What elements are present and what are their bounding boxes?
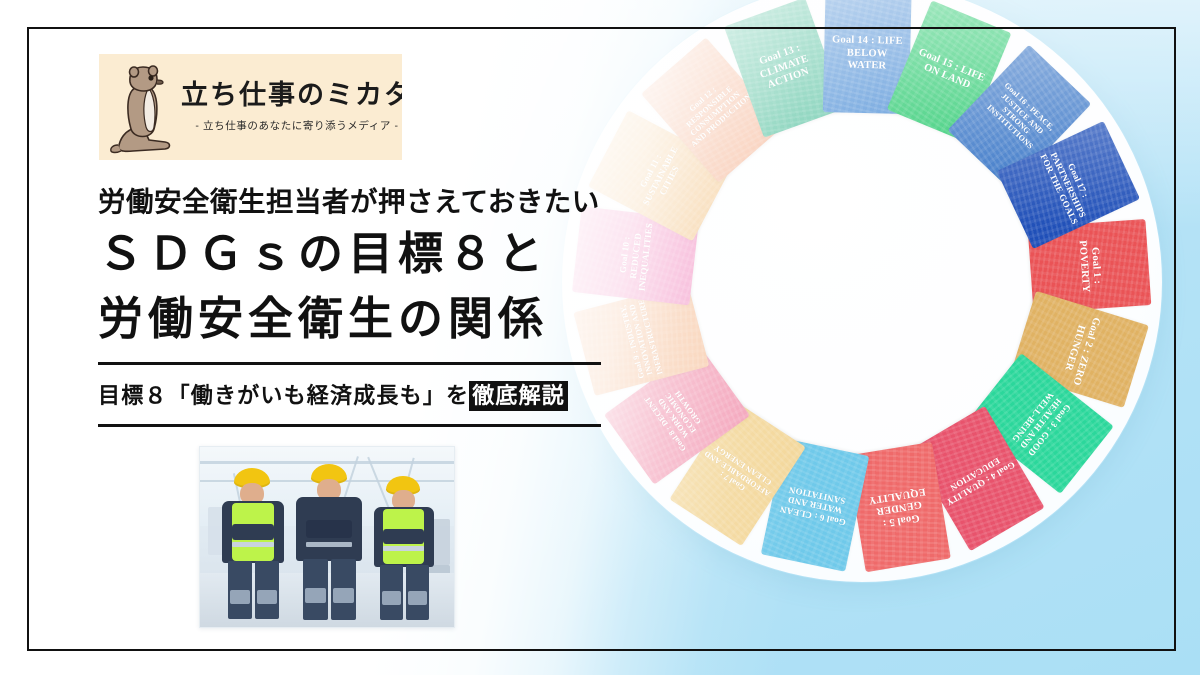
site-logo[interactable]: 立ち仕事のミカタ - 立ち仕事のあなたに寄り添うメディア - [99,54,402,160]
wheel-segment-label: Goal 2 : ZERO HUNGER [1055,305,1104,394]
worker-photo [199,446,455,628]
logo-tagline: - 立ち仕事のあなたに寄り添うメディア - [195,118,398,133]
photo-worker [368,470,442,620]
wheel-segment-label: Goal 5 : GENDER EQUALITY [853,482,944,533]
wheel-segment-label: Goal 14 : LIFE BELOW WATER [824,35,911,74]
photo-worker [292,462,366,620]
wheel-segment-label: Goal 7 : AFFORDABLE AND CLEAN ENERGY [694,438,782,509]
wheel-segment-label: Goal 15 : LIFE ON LAND [905,43,994,99]
photo-worker [216,468,290,620]
subtitle-highlight: 徹底解説 [469,381,568,411]
wheel-segment-label: Goal 13 : CLIMATE ACTION [738,36,831,100]
headline-title-line1: ＳＤＧｓの目標８と [98,224,738,284]
logo-text-group: 立ち仕事のミカタ - 立ち仕事のあなたに寄り添うメディア - [181,81,402,133]
headline-divider-top [98,362,601,365]
logo-title: 立ち仕事のミカタ [181,81,402,111]
headline-block: 労働安全衛生担当者が押さえておきたい ＳＤＧｓの目標８と 労働安全衛生の関係 目… [98,184,738,427]
headline-kicker: 労働安全衛生担当者が押さえておきたい [98,184,738,219]
headline-subtitle: 目標８「働きがいも経済成長も」を徹底解説 [98,378,738,410]
eyecatch-canvas: Goal 1 : POVERTYGoal 2 : ZERO HUNGERGoal… [0,0,1200,675]
headline-title-line2: 労働安全衛生の関係 [98,289,738,349]
subtitle-prefix: 目標８「働きがいも経済成長も」を [98,383,469,408]
wheel-segment-label: Goal 17 : PARTNERSHIPS FOR THE GOALS [1036,139,1101,230]
headline-divider-bottom [98,424,601,427]
wheel-segment-label: Goal 4 : QUALITY EDUCATION [935,448,1020,510]
wheel-segment-label: Goal 6 : CLEAN WATER AND SANITATION [770,481,861,530]
meerkat-icon [107,57,181,157]
wheel-segment-label: Goal 1 : POVERTY [1074,222,1105,310]
